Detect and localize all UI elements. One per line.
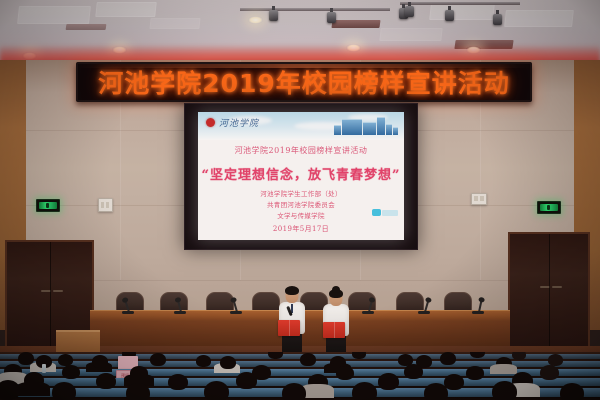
ceiling [0, 0, 600, 66]
ceiling-panel [429, 4, 495, 20]
red-folder [278, 320, 300, 336]
microphone-base [230, 311, 242, 314]
slide-school-name: 河池学院 [219, 116, 259, 129]
slide-date: 2019年5月17日 [198, 224, 404, 234]
spotlight-icon [268, 6, 279, 21]
red-folder [323, 322, 345, 338]
ceiling-light-slot [331, 20, 380, 28]
spotlight-icon [326, 8, 337, 23]
slide-theme: “坚定理想信念，放飞青春梦想” [198, 164, 404, 183]
slide-organizer-line-1: 河池学院学生工作部（处） [198, 188, 404, 198]
female-host [316, 288, 356, 358]
exit-sign-right [537, 201, 561, 214]
ceiling-panel [379, 28, 442, 41]
lighting-track [400, 2, 520, 5]
ceiling-panel [149, 18, 200, 29]
campus-building-image [334, 116, 398, 135]
spotlight-icon [404, 2, 415, 17]
microphone-base [174, 311, 186, 314]
ceiling-light-slot [66, 24, 107, 30]
audience-area: 预留 [0, 352, 600, 400]
photo-scene: 河池学院2019年校园榜样宣讲活动 河池学院 河池学院2019年校园榜样宣讲活动… [0, 0, 600, 400]
school-emblem-icon [206, 118, 215, 127]
microphone-base [418, 311, 430, 314]
microphone-base [472, 311, 484, 314]
ceiling-panel [17, 6, 91, 24]
male-host [272, 286, 312, 358]
spotlight-icon [444, 6, 455, 21]
downlight-icon [248, 16, 263, 24]
exit-sign-left [36, 199, 60, 212]
slide-title: 河池学院2019年校园榜样宣讲活动 [198, 145, 404, 156]
water-bottle [42, 364, 46, 373]
ceiling-panel [95, 2, 157, 17]
microphone-base [362, 311, 374, 314]
slide-organizer-line-2: 共青团河池学院委员会 [198, 199, 404, 209]
ceiling-panel [504, 10, 574, 27]
lighting-track [240, 8, 390, 11]
door-right[interactable] [508, 232, 590, 351]
led-banner: 河池学院2019年校园榜样宣讲活动 [76, 62, 532, 102]
microphone-base [122, 311, 134, 314]
wall-control-panel-left[interactable] [98, 198, 113, 212]
wall-control-panel-right[interactable] [471, 193, 487, 205]
presentation-slide: 河池学院 河池学院2019年校园榜样宣讲活动 “坚定理想信念，放飞青春梦想” 河… [198, 112, 404, 240]
led-banner-text: 河池学院2019年校园榜样宣讲活动 [98, 64, 510, 100]
watermark-badge-icon [372, 209, 398, 216]
spotlight-icon [492, 10, 503, 25]
projection-screen: 河池学院 河池学院2019年校园榜样宣讲活动 “坚定理想信念，放飞青春梦想” 河… [184, 103, 418, 250]
